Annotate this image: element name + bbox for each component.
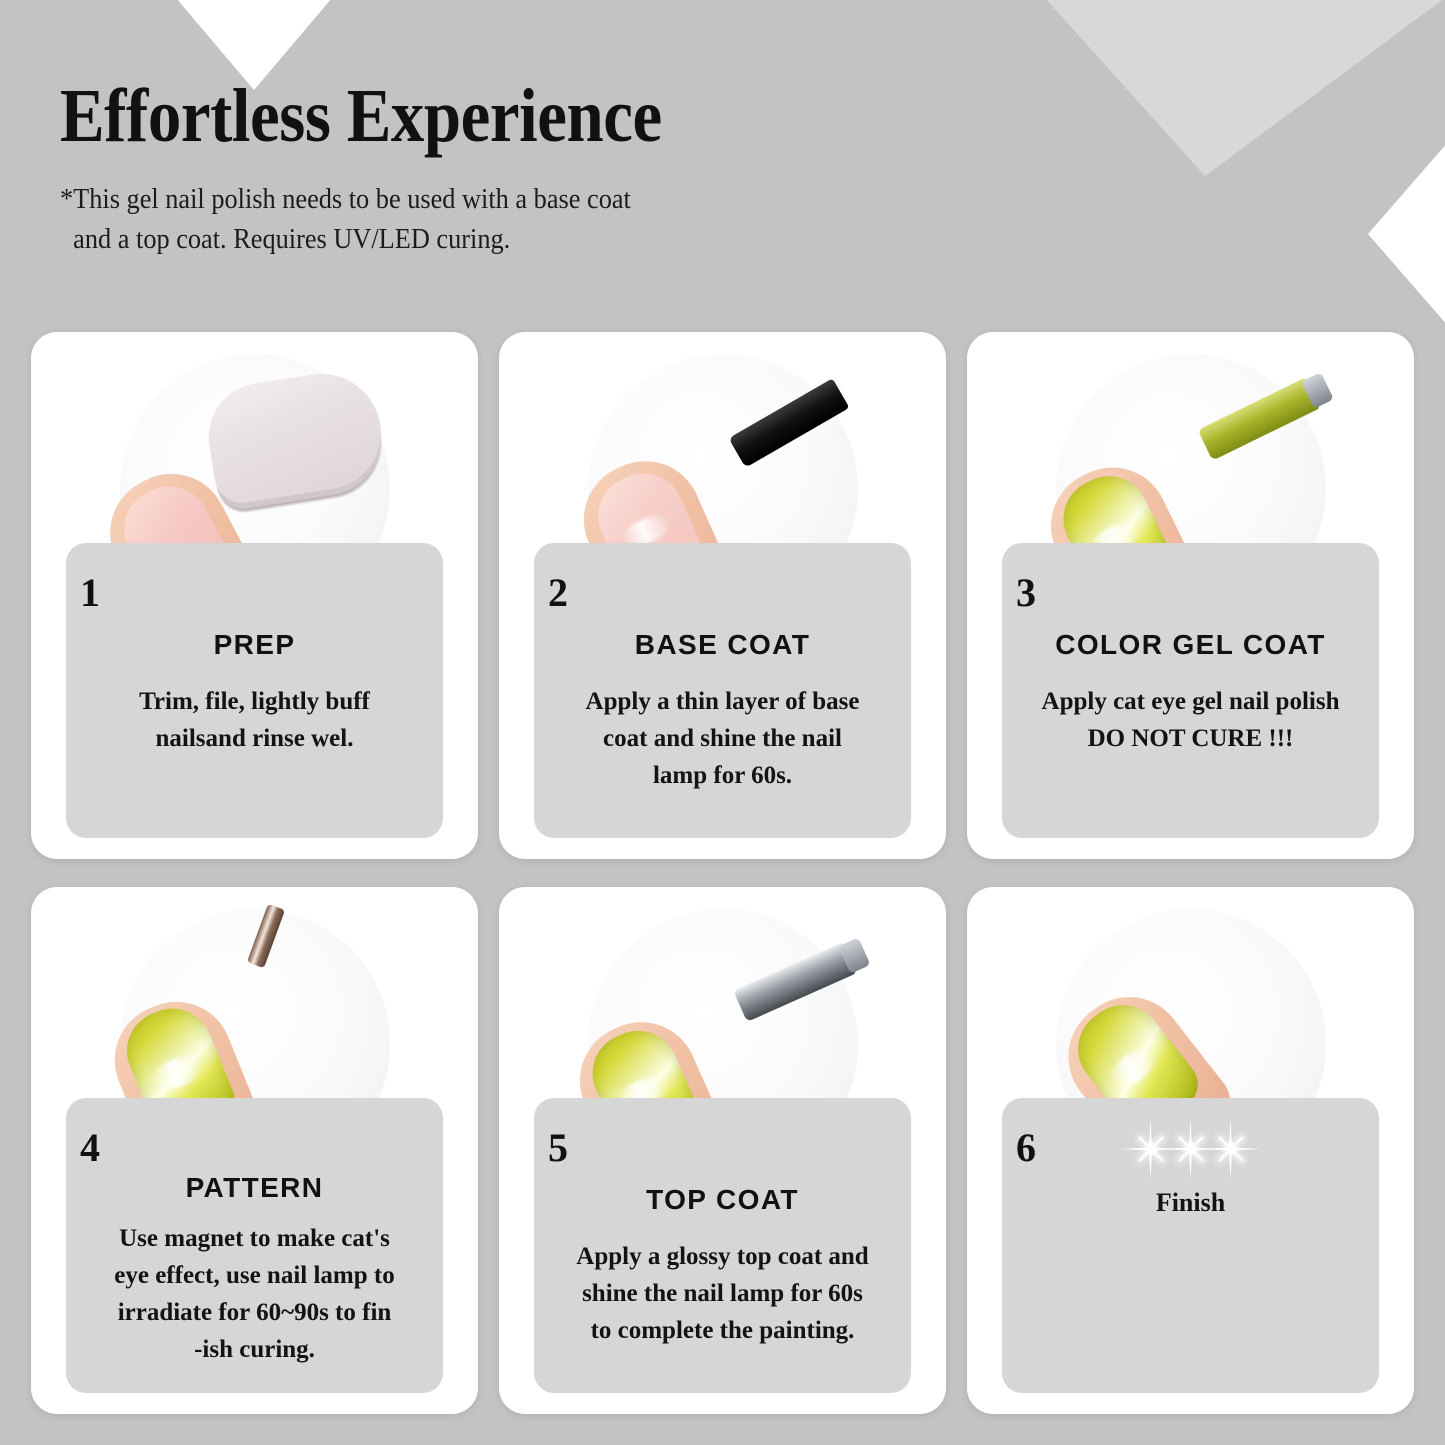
step-description: Finish xyxy=(1002,1184,1379,1222)
cat-eye-shine xyxy=(148,1050,206,1095)
step-6-panel: 6 Finish xyxy=(1002,1098,1379,1393)
base-coat-brush-icon xyxy=(729,378,850,467)
step-number: 6 xyxy=(1016,1128,1036,1168)
page-subtitle-line-1: *This gel nail polish needs to be used w… xyxy=(60,184,631,215)
infographic-page: Effortless Experience *This gel nail pol… xyxy=(0,0,1445,1445)
step-description: Use magnet to make cat's eye effect, use… xyxy=(66,1220,443,1368)
brush-cap-icon xyxy=(838,937,870,973)
step-description: Apply cat eye gel nail polish DO NOT CUR… xyxy=(1002,683,1379,757)
sparkle-group xyxy=(1146,1144,1236,1154)
brush-cap-icon xyxy=(1301,372,1334,409)
step-number: 2 xyxy=(548,573,568,613)
nail-buffer-icon xyxy=(201,365,389,506)
step-title: BASE COAT xyxy=(534,629,911,661)
page-subtitle-line-2: and a top coat. Requires UV/LED curing. xyxy=(60,220,703,260)
header: Effortless Experience *This gel nail pol… xyxy=(0,0,744,260)
sparkle-star-icon xyxy=(1226,1144,1236,1154)
step-card-6[interactable]: 6 Finish xyxy=(967,887,1414,1414)
step-description: Trim, file, lightly buff nailsand rinse … xyxy=(66,683,443,757)
step-title: TOP COAT xyxy=(534,1184,911,1216)
step-card-2[interactable]: 2 BASE COAT Apply a thin layer of base c… xyxy=(499,332,946,859)
step-5-panel: 5 TOP COAT Apply a glossy top coat and s… xyxy=(534,1098,911,1393)
step-2-panel: 2 BASE COAT Apply a thin layer of base c… xyxy=(534,543,911,838)
top-coat-brush-icon xyxy=(733,942,856,1022)
page-subtitle: *This gel nail polish needs to be used w… xyxy=(60,180,703,260)
wedge-triangle-right-edge-icon xyxy=(1368,142,1445,326)
step-title: PATTERN xyxy=(66,1172,443,1204)
step-number: 4 xyxy=(80,1128,100,1168)
sparkle-star-icon xyxy=(1146,1144,1156,1154)
color-gel-brush-icon xyxy=(1198,377,1321,460)
cat-eye-shine xyxy=(1105,1040,1163,1094)
magnet-stick-top-icon xyxy=(247,904,285,968)
step-4-panel: 4 PATTERN Use magnet to make cat's eye e… xyxy=(66,1098,443,1393)
step-card-4[interactable]: 4 PATTERN Use magnet to make cat's eye e… xyxy=(31,887,478,1414)
step-card-1[interactable]: 1 PREP Trim, file, lightly buff nailsand… xyxy=(31,332,478,859)
page-title: Effortless Experience xyxy=(60,78,662,154)
step-description: Apply a glossy top coat and shine the na… xyxy=(534,1238,911,1349)
step-number: 3 xyxy=(1016,573,1036,613)
step-3-panel: 3 COLOR GEL COAT Apply cat eye gel nail … xyxy=(1002,543,1379,838)
step-card-3[interactable]: 3 COLOR GEL COAT Apply cat eye gel nail … xyxy=(967,332,1414,859)
step-1-panel: 1 PREP Trim, file, lightly buff nailsand… xyxy=(66,543,443,838)
step-title: COLOR GEL COAT xyxy=(1002,629,1379,661)
step-title: PREP xyxy=(66,629,443,661)
step-description: Apply a thin layer of base coat and shin… xyxy=(534,683,911,794)
step-card-5[interactable]: 5 TOP COAT Apply a glossy top coat and s… xyxy=(499,887,946,1414)
step-number: 5 xyxy=(548,1128,568,1168)
steps-grid: 1 PREP Trim, file, lightly buff nailsand… xyxy=(31,332,1415,1414)
step-number: 1 xyxy=(80,573,100,613)
wedge-triangle-top-right-icon xyxy=(1045,0,1445,176)
sparkle-star-icon xyxy=(1186,1144,1196,1154)
